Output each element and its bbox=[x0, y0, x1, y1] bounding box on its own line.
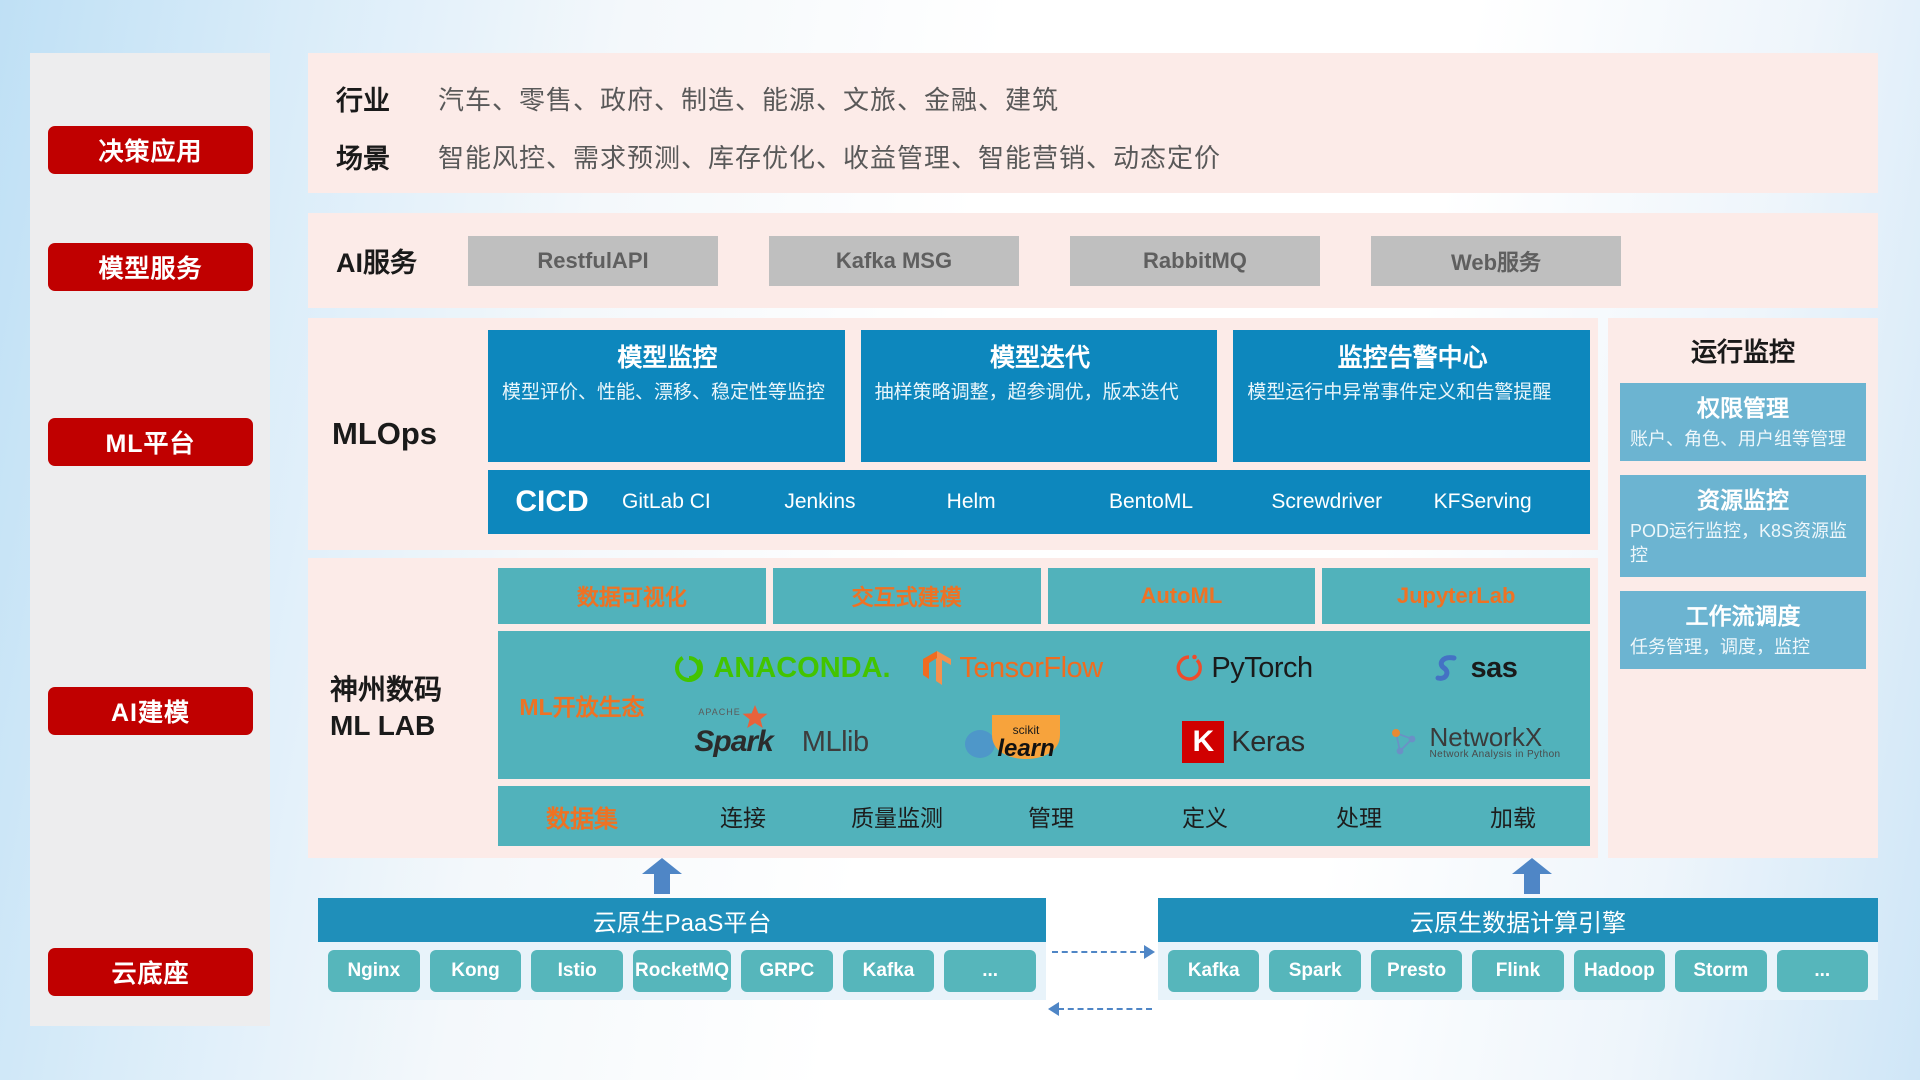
compute-chip-kafka[interactable]: Kafka bbox=[1168, 950, 1259, 992]
run-monitor-card-resources[interactable]: 资源监控 POD运行监控，K8S资源监控 bbox=[1620, 475, 1866, 577]
dash-connector-right bbox=[1052, 951, 1146, 953]
stage-label: ML平台 bbox=[105, 424, 195, 460]
dataset-item-define[interactable]: 定义 bbox=[1128, 799, 1282, 833]
tab-interactive-modeling[interactable]: 交互式建模 bbox=[773, 568, 1041, 624]
stage-pill-ai-modeling[interactable]: AI建模 bbox=[48, 687, 253, 735]
stage-rail: 决策应用 模型服务 ML平台 AI建模 云底座 bbox=[30, 53, 270, 1026]
industry-row: 行业 汽车、零售、政府、制造、能源、文旅、金融、建筑 bbox=[308, 71, 1878, 125]
spark-apache-text: APACHE bbox=[698, 707, 740, 717]
tab-data-visualization[interactable]: 数据可视化 bbox=[498, 568, 766, 624]
stage-label: AI建模 bbox=[111, 693, 190, 729]
ai-service-chip[interactable]: RestfulAPI bbox=[468, 236, 718, 286]
cicd-item-screwdriver[interactable]: Screwdriver bbox=[1265, 491, 1427, 513]
learn-word-text: learn bbox=[990, 737, 1062, 761]
dash-connector-left bbox=[1058, 1008, 1152, 1010]
run-monitor-card-desc: 任务管理，调度，监控 bbox=[1630, 635, 1856, 659]
scenario-row: 场景 智能风控、需求预测、库存优化、收益管理、智能营销、动态定价 bbox=[308, 129, 1878, 183]
industry-scenario-panel: 行业 汽车、零售、政府、制造、能源、文旅、金融、建筑 场景 智能风控、需求预测、… bbox=[308, 53, 1878, 193]
sas-logo-text: sas bbox=[1471, 652, 1518, 685]
scikit-learn-logo: scikit learn bbox=[963, 722, 1062, 762]
ml-ecosystem-logo-grid: ANACONDA. TensorFlow PyTorch bbox=[666, 631, 1590, 779]
networkx-logo: NetworkX Network Analysis in Python bbox=[1388, 724, 1560, 760]
run-monitor-card-workflow[interactable]: 工作流调度 任务管理，调度，监控 bbox=[1620, 591, 1866, 669]
compute-chip-spark[interactable]: Spark bbox=[1269, 950, 1360, 992]
mlops-card-model-iteration[interactable]: 模型迭代 抽样策略调整，超参调优，版本迭代 bbox=[861, 330, 1218, 462]
dataset-bar: 数据集 连接 质量监测 管理 定义 处理 加载 bbox=[498, 786, 1590, 846]
scenario-label: 场景 bbox=[308, 137, 438, 176]
keras-mark-icon: K bbox=[1182, 721, 1224, 763]
ai-service-label: AI服务 bbox=[336, 213, 417, 308]
compute-engine-block: 云原生数据计算引擎 Kafka Spark Presto Flink Hadoo… bbox=[1158, 898, 1878, 1000]
sas-logo: sas bbox=[1432, 652, 1518, 685]
mlops-card-alert-center[interactable]: 监控告警中心 模型运行中异常事件定义和告警提醒 bbox=[1233, 330, 1590, 462]
arrow-up-paas-icon bbox=[642, 858, 682, 894]
compute-chip-storm[interactable]: Storm bbox=[1675, 950, 1766, 992]
stage-label: 云底座 bbox=[111, 954, 189, 990]
cicd-item-jenkins[interactable]: Jenkins bbox=[778, 491, 940, 513]
ml-lab-panel: 神州数码 ML LAB 数据可视化 交互式建模 AutoML JupyterLa… bbox=[308, 558, 1598, 858]
anaconda-logo-text: ANACONDA. bbox=[713, 652, 890, 685]
paas-chip-rocketmq[interactable]: RocketMQ bbox=[633, 950, 731, 992]
ai-service-chip[interactable]: Web服务 bbox=[1371, 236, 1621, 286]
keras-logo: K Keras bbox=[1182, 721, 1304, 763]
networkx-mark-icon bbox=[1388, 725, 1422, 759]
ai-service-panel: AI服务 RestfulAPI Kafka MSG RabbitMQ Web服务 bbox=[308, 213, 1878, 308]
run-monitor-panel: 运行监控 权限管理 账户、角色、用户组等管理 资源监控 POD运行监控，K8S资… bbox=[1608, 318, 1878, 858]
run-monitor-card-title: 权限管理 bbox=[1630, 389, 1856, 423]
mllib-logo-text: MLlib bbox=[802, 726, 869, 759]
spark-mark-icon: APACHE Spark bbox=[694, 725, 772, 759]
run-monitor-title: 运行监控 bbox=[1608, 318, 1878, 369]
ml-ecosystem-band: ML开放生态 ANACONDA. TensorFlow bbox=[498, 631, 1590, 779]
dataset-item-quality[interactable]: 质量监测 bbox=[820, 799, 974, 833]
mlops-card-desc: 模型评价、性能、漂移、稳定性等监控 bbox=[502, 380, 833, 405]
stage-pill-model-svc[interactable]: 模型服务 bbox=[48, 243, 253, 291]
anaconda-mark-icon bbox=[672, 651, 706, 685]
cicd-item-kfserving[interactable]: KFServing bbox=[1428, 491, 1590, 513]
networkx-logo-text: NetworkX bbox=[1429, 724, 1560, 750]
industry-label: 行业 bbox=[308, 79, 438, 118]
paas-chip-kong[interactable]: Kong bbox=[430, 950, 522, 992]
tensorflow-mark-icon bbox=[922, 649, 952, 687]
compute-chip-presto[interactable]: Presto bbox=[1371, 950, 1462, 992]
dash-arrow-left-icon bbox=[1048, 1002, 1059, 1016]
paas-title: 云原生PaaS平台 bbox=[318, 898, 1046, 942]
scikit-orange-blob-icon: scikit learn bbox=[990, 723, 1062, 761]
ai-service-chip[interactable]: Kafka MSG bbox=[769, 236, 1019, 286]
pytorch-mark-icon bbox=[1174, 651, 1204, 685]
run-monitor-card-desc: POD运行监控，K8S资源监控 bbox=[1630, 519, 1856, 567]
stage-pill-cloud-base[interactable]: 云底座 bbox=[48, 948, 253, 996]
dataset-item-load[interactable]: 加载 bbox=[1436, 799, 1590, 833]
stage-label: 决策应用 bbox=[98, 132, 202, 168]
dataset-title: 数据集 bbox=[498, 799, 666, 834]
mlops-card-desc: 抽样策略调整，超参调优，版本迭代 bbox=[875, 380, 1206, 405]
mlops-panel: MLOps 模型监控 模型评价、性能、漂移、稳定性等监控 模型迭代 抽样策略调整… bbox=[308, 318, 1598, 550]
paas-chip-list: Nginx Kong Istio RocketMQ GRPC Kafka ... bbox=[318, 942, 1046, 1000]
run-monitor-card-title: 工作流调度 bbox=[1630, 597, 1856, 631]
networkx-subtitle: Network Analysis in Python bbox=[1429, 750, 1560, 760]
compute-engine-title: 云原生数据计算引擎 bbox=[1158, 898, 1878, 942]
stage-pill-decision[interactable]: 决策应用 bbox=[48, 126, 253, 174]
industry-values: 汽车、零售、政府、制造、能源、文旅、金融、建筑 bbox=[438, 80, 1059, 117]
paas-block: 云原生PaaS平台 Nginx Kong Istio RocketMQ GRPC… bbox=[318, 898, 1046, 1000]
anaconda-logo: ANACONDA. bbox=[672, 651, 890, 685]
dataset-item-process[interactable]: 处理 bbox=[1282, 799, 1436, 833]
mlops-card-title: 模型监控 bbox=[502, 338, 833, 374]
cicd-item-gitlab[interactable]: GitLab CI bbox=[616, 491, 778, 513]
paas-chip-grpc[interactable]: GRPC bbox=[741, 950, 833, 992]
pytorch-logo: PyTorch bbox=[1174, 651, 1312, 685]
compute-chip-list: Kafka Spark Presto Flink Hadoop Storm ..… bbox=[1158, 942, 1878, 1000]
pytorch-logo-text: PyTorch bbox=[1211, 652, 1312, 685]
ml-lab-label-line1: 神州数码 bbox=[330, 672, 442, 708]
tensorflow-logo-text: TensorFlow bbox=[959, 652, 1102, 685]
mlops-label: MLOps bbox=[332, 318, 482, 550]
dash-arrow-right-icon bbox=[1144, 945, 1155, 959]
stage-pill-ml-platform[interactable]: ML平台 bbox=[48, 418, 253, 466]
cicd-bar: CICD GitLab CI Jenkins Helm BentoML Scre… bbox=[488, 470, 1590, 534]
dataset-item-manage[interactable]: 管理 bbox=[974, 799, 1128, 833]
ml-lab-label: 神州数码 ML LAB bbox=[330, 558, 495, 858]
tab-jupyterlab[interactable]: JupyterLab bbox=[1322, 568, 1590, 624]
cicd-item-helm[interactable]: Helm bbox=[941, 491, 1103, 513]
compute-chip-hadoop[interactable]: Hadoop bbox=[1574, 950, 1665, 992]
keras-logo-text: Keras bbox=[1231, 726, 1304, 759]
mlops-card-model-monitor[interactable]: 模型监控 模型评价、性能、漂移、稳定性等监控 bbox=[488, 330, 845, 462]
ai-service-chip[interactable]: RabbitMQ bbox=[1070, 236, 1320, 286]
scenario-values: 智能风控、需求预测、库存优化、收益管理、智能营销、动态定价 bbox=[438, 138, 1221, 175]
spark-mllib-logo: APACHE Spark MLlib bbox=[694, 725, 868, 759]
tab-automl[interactable]: AutoML bbox=[1048, 568, 1316, 624]
paas-chip-nginx[interactable]: Nginx bbox=[328, 950, 420, 992]
cicd-item-bentoml[interactable]: BentoML bbox=[1103, 491, 1265, 513]
ml-lab-tab-list: 数据可视化 交互式建模 AutoML JupyterLab bbox=[498, 568, 1590, 624]
paas-chip-more[interactable]: ... bbox=[944, 950, 1036, 992]
mlops-card-title: 模型迭代 bbox=[875, 338, 1206, 374]
mlops-card-list: 模型监控 模型评价、性能、漂移、稳定性等监控 模型迭代 抽样策略调整，超参调优，… bbox=[488, 330, 1590, 462]
run-monitor-card-title: 资源监控 bbox=[1630, 481, 1856, 515]
compute-chip-flink[interactable]: Flink bbox=[1472, 950, 1563, 992]
ai-service-chip-list: RestfulAPI Kafka MSG RabbitMQ Web服务 bbox=[468, 213, 1862, 308]
tensorflow-logo: TensorFlow bbox=[922, 649, 1102, 687]
run-monitor-card-desc: 账户、角色、用户组等管理 bbox=[1630, 427, 1856, 451]
mlops-card-desc: 模型运行中异常事件定义和告警提醒 bbox=[1247, 380, 1578, 405]
paas-chip-istio[interactable]: Istio bbox=[531, 950, 623, 992]
cicd-title: CICD bbox=[488, 485, 616, 519]
run-monitor-card-permissions[interactable]: 权限管理 账户、角色、用户组等管理 bbox=[1620, 383, 1866, 461]
spark-logo-text: Spark bbox=[694, 725, 772, 758]
sas-mark-icon bbox=[1432, 652, 1464, 684]
ml-ecosystem-title: ML开放生态 bbox=[498, 688, 666, 722]
paas-chip-kafka[interactable]: Kafka bbox=[843, 950, 935, 992]
spark-star-icon bbox=[742, 705, 768, 729]
compute-chip-more[interactable]: ... bbox=[1777, 950, 1868, 992]
architecture-diagram: 决策应用 模型服务 ML平台 AI建模 云底座 行业 汽车、零售、政府、制造、能… bbox=[0, 0, 1920, 1080]
stage-label: 模型服务 bbox=[98, 249, 202, 285]
mlops-card-title: 监控告警中心 bbox=[1247, 338, 1578, 374]
arrow-up-compute-icon bbox=[1512, 858, 1552, 894]
ml-lab-label-line2: ML LAB bbox=[330, 708, 435, 744]
dataset-item-connect[interactable]: 连接 bbox=[666, 799, 820, 833]
